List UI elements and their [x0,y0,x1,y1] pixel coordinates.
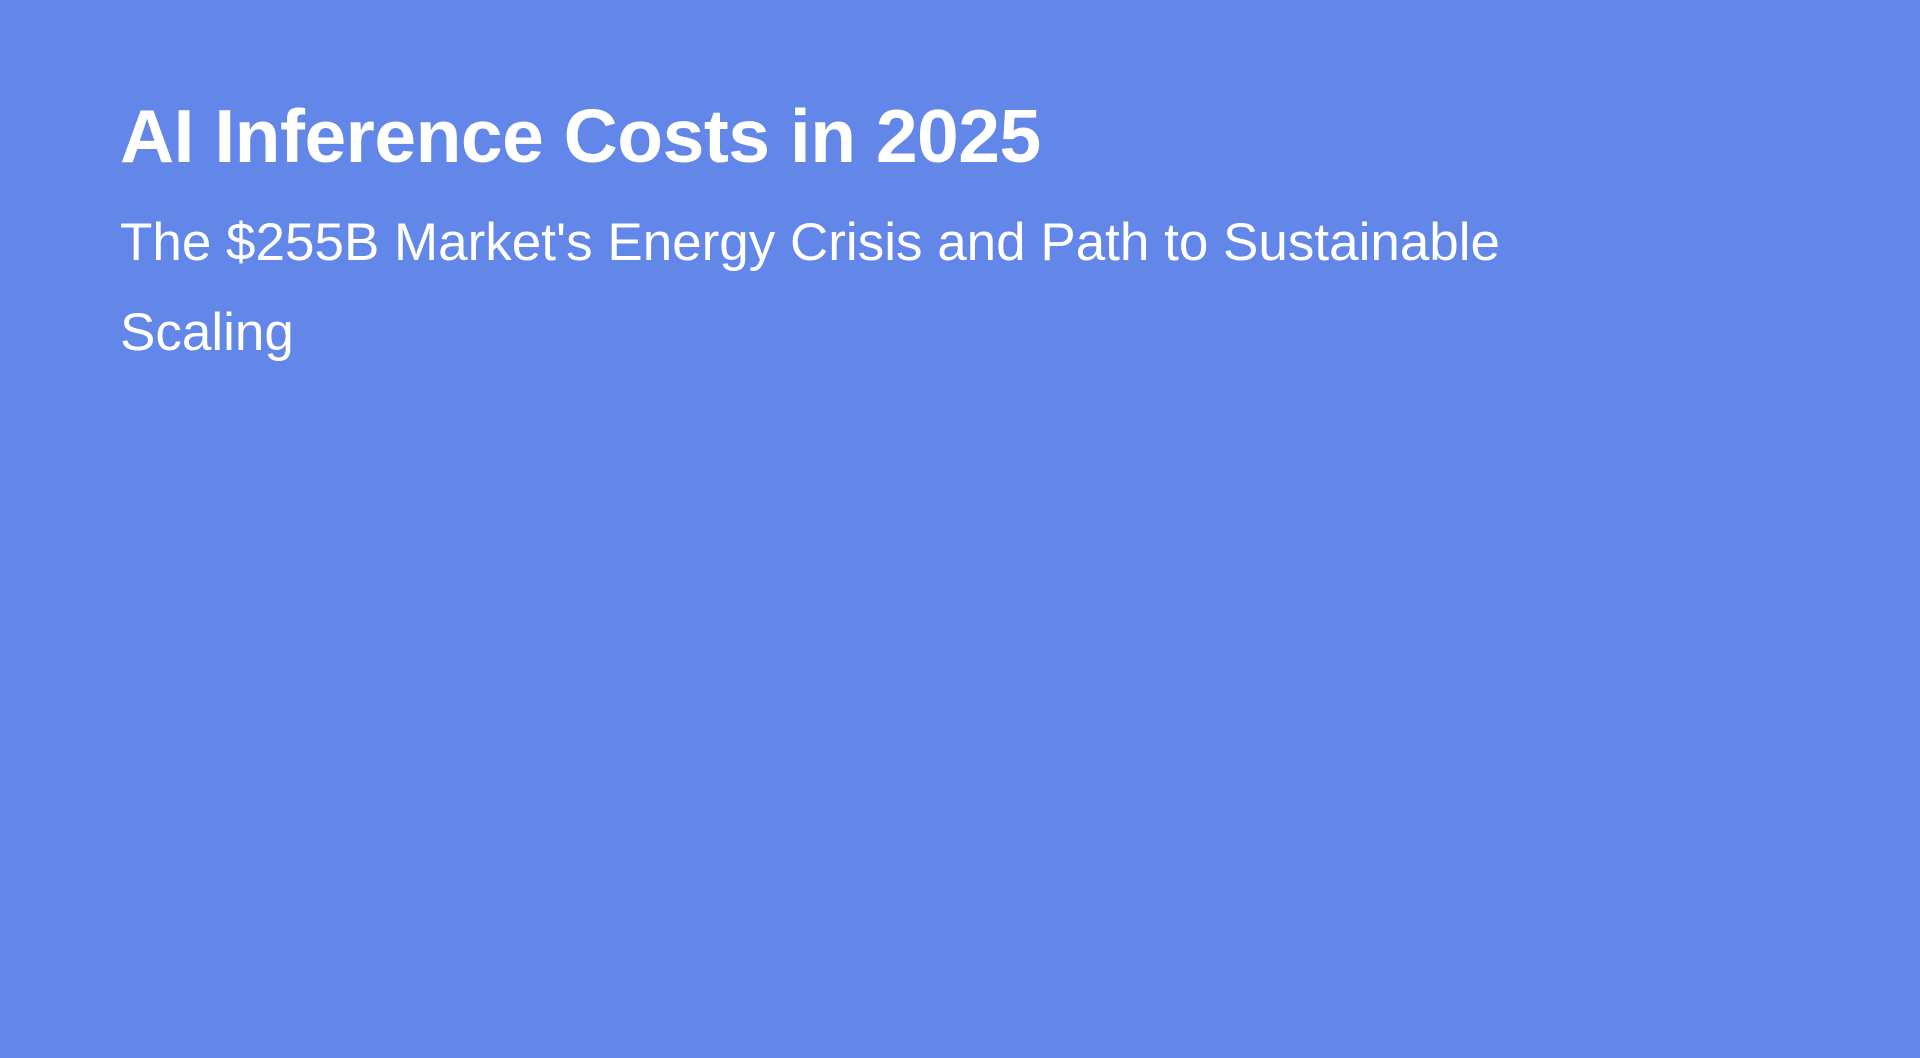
slide-body-area [120,400,1800,998]
page-title: AI Inference Costs in 2025 [120,88,1680,184]
title-slide: AI Inference Costs in 2025 The $255B Mar… [0,0,1920,1058]
title-block: AI Inference Costs in 2025 The $255B Mar… [120,88,1680,378]
page-subtitle: The $255B Market's Energy Crisis and Pat… [120,198,1580,378]
